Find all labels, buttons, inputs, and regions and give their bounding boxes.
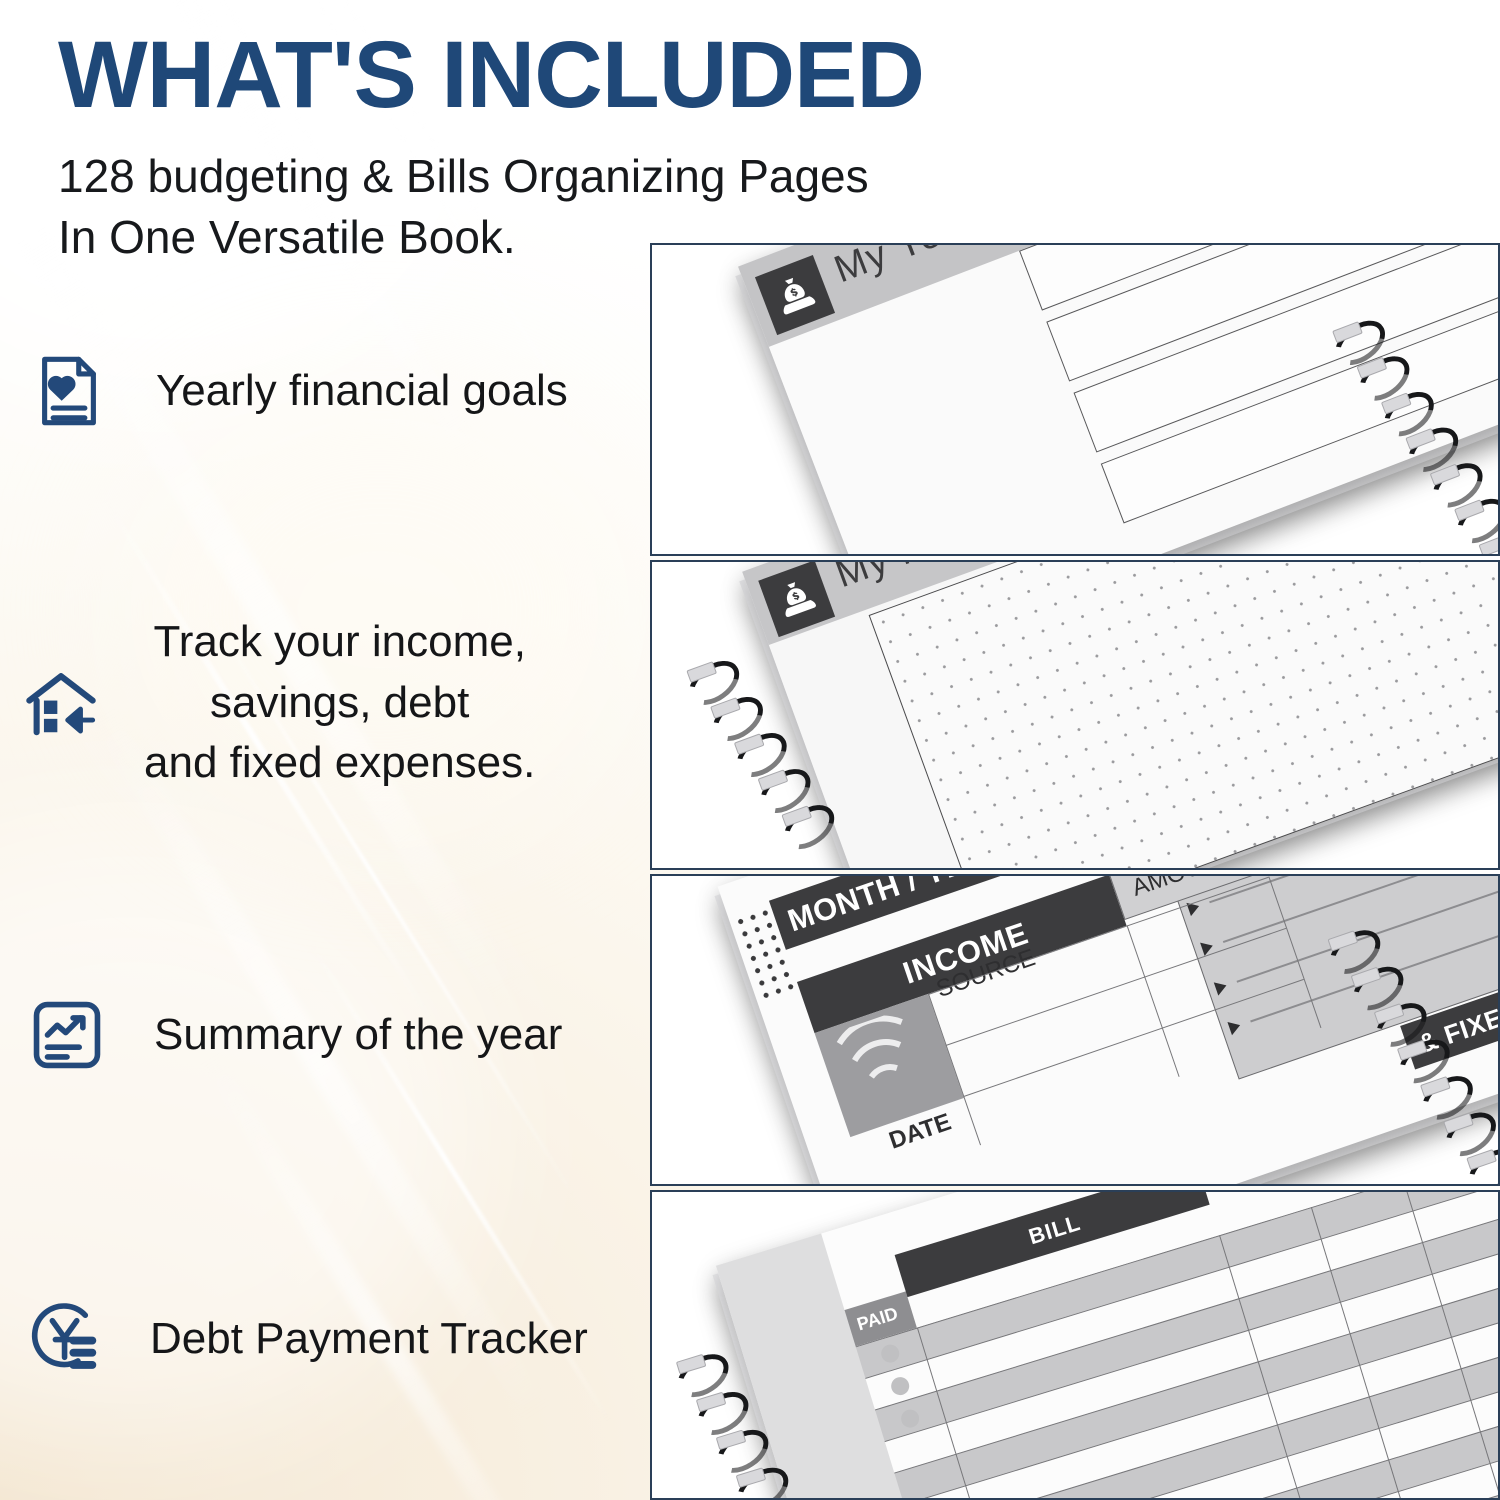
feature-label-line: Debt Payment Tracker bbox=[150, 1309, 588, 1370]
chart-trending-up-icon bbox=[28, 996, 106, 1074]
infographic-root: WHAT'S INCLUDED 128 budgeting & Bills Or… bbox=[0, 0, 1500, 1500]
house-income-arrow-icon bbox=[22, 664, 100, 742]
page-title: WHAT'S INCLUDED bbox=[58, 26, 924, 126]
subtitle-line-2: In One Versatile Book. bbox=[58, 211, 516, 263]
feature-label-line: Summary of the year bbox=[154, 1005, 562, 1066]
yen-currency-icon bbox=[28, 1300, 106, 1378]
feature-summary-of-year: Summary of the year bbox=[28, 996, 562, 1074]
feature-track-income: Track your income,savings, debtand fixed… bbox=[22, 612, 535, 794]
feature-label: Track your income,savings, debtand fixed… bbox=[144, 612, 535, 794]
subtitle-line-1: 128 budgeting & Bills Organizing Pages bbox=[58, 150, 869, 202]
feature-label-line: Track your income, bbox=[144, 612, 535, 673]
product-photo-other-bills: OTHER BILLS & EXPE PAID BILL DUE DATE AM… bbox=[650, 1190, 1500, 1500]
product-photo-yearly-financial-goals: My Yearly Financial Goals bbox=[650, 243, 1500, 556]
feature-debt-payment-tracker: Debt Payment Tracker bbox=[28, 1300, 588, 1378]
document-heart-icon bbox=[30, 352, 108, 430]
product-photo-monthly-budget: MONTH / YEAR: JAN FEB MAR APR MAY JUN JU… bbox=[650, 874, 1500, 1186]
feature-label-line: and fixed expenses. bbox=[144, 733, 535, 794]
feature-label-line: savings, debt bbox=[144, 673, 535, 734]
dot-grid-area bbox=[869, 560, 1500, 870]
product-photo-mind-map: My Mind Map bbox=[650, 560, 1500, 870]
feature-label: Debt Payment Tracker bbox=[150, 1309, 588, 1370]
feature-label: Yearly financial goals bbox=[156, 361, 568, 422]
feature-label-line: Yearly financial goals bbox=[156, 361, 568, 422]
feature-label: Summary of the year bbox=[154, 1005, 562, 1066]
feature-yearly-financial-goals: Yearly financial goals bbox=[30, 352, 568, 430]
